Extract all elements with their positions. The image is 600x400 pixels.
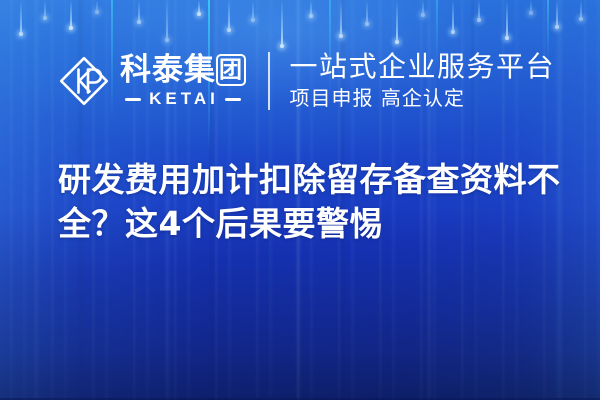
meteor-head-11 <box>339 34 343 38</box>
meteor-16 <box>478 0 480 20</box>
meteor-17 <box>506 0 508 38</box>
meteor-9 <box>281 0 283 46</box>
meteor-head-17 <box>505 36 509 40</box>
meteor-head-12 <box>365 22 369 26</box>
meteor-head-7 <box>227 28 231 32</box>
brand-name-cn: 科泰集团 <box>120 53 246 87</box>
meteor-5 <box>166 0 168 40</box>
brand-dash-right-icon <box>225 98 241 101</box>
meteor-head-20 <box>579 17 583 21</box>
brand-name-en-row: KETAI <box>120 89 246 109</box>
headline-block: 研发费用加计扣除留存备查资料不 全？这4个后果要警惕 <box>58 158 558 246</box>
meteor-13 <box>396 0 398 42</box>
brand-name-en: KETAI <box>149 89 219 109</box>
brand-name-cn-main: 科泰集 <box>120 52 216 88</box>
promo-banner: 科泰集团 KETAI 一站式企业服务平台 项目申报 高企认定 研发费用加计扣除留… <box>0 0 600 400</box>
meteor-10 <box>310 0 312 16</box>
brand-wordmark: 科泰集团 KETAI <box>120 53 246 109</box>
meteor-14 <box>422 0 424 15</box>
meteor-head-10 <box>309 14 313 18</box>
brand-header: 科泰集团 KETAI 一站式企业服务平台 项目申报 高企认定 <box>58 48 555 114</box>
tagline-block: 一站式企业服务平台 项目申报 高企认定 <box>290 51 556 111</box>
meteor-0 <box>20 0 22 34</box>
meteor-head-6 <box>197 12 201 16</box>
meteor-head-19 <box>555 25 559 29</box>
kp-diamond-monogram-icon <box>58 55 110 107</box>
headline-line-1: 研发费用加计扣除留存备查资料不 <box>58 158 558 202</box>
brand-name-cn-boxed: 团 <box>216 54 246 86</box>
meteor-19 <box>556 0 558 27</box>
meteor-11 <box>340 0 342 36</box>
brand-dash-left-icon <box>125 98 141 101</box>
header-divider <box>268 52 270 110</box>
meteor-head-3 <box>95 10 99 14</box>
meteor-15 <box>452 0 454 32</box>
meteor-2 <box>70 0 72 28</box>
tagline-sub: 项目申报 高企认定 <box>290 85 556 111</box>
meteor-head-13 <box>395 40 399 44</box>
meteor-head-8 <box>251 18 255 22</box>
meteor-head-2 <box>69 26 73 30</box>
meteor-7 <box>228 0 230 30</box>
meteor-8 <box>252 0 254 20</box>
meteor-12 <box>366 0 368 24</box>
meteor-head-5 <box>165 38 169 42</box>
headline-line-2: 全？这4个后果要警惕 <box>58 202 558 246</box>
meteor-6 <box>198 0 200 14</box>
tagline-main: 一站式企业服务平台 <box>290 51 556 82</box>
meteor-4 <box>138 0 140 22</box>
meteor-head-18 <box>529 11 533 15</box>
meteor-head-14 <box>421 13 425 17</box>
meteor-3 <box>96 0 98 12</box>
meteor-18 <box>530 0 532 13</box>
meteor-head-1 <box>43 16 47 20</box>
meteor-head-0 <box>19 32 23 36</box>
meteor-head-16 <box>477 18 481 22</box>
meteor-20 <box>580 0 582 19</box>
meteor-head-15 <box>451 30 455 34</box>
meteor-1 <box>44 0 46 18</box>
meteor-head-4 <box>137 20 141 24</box>
